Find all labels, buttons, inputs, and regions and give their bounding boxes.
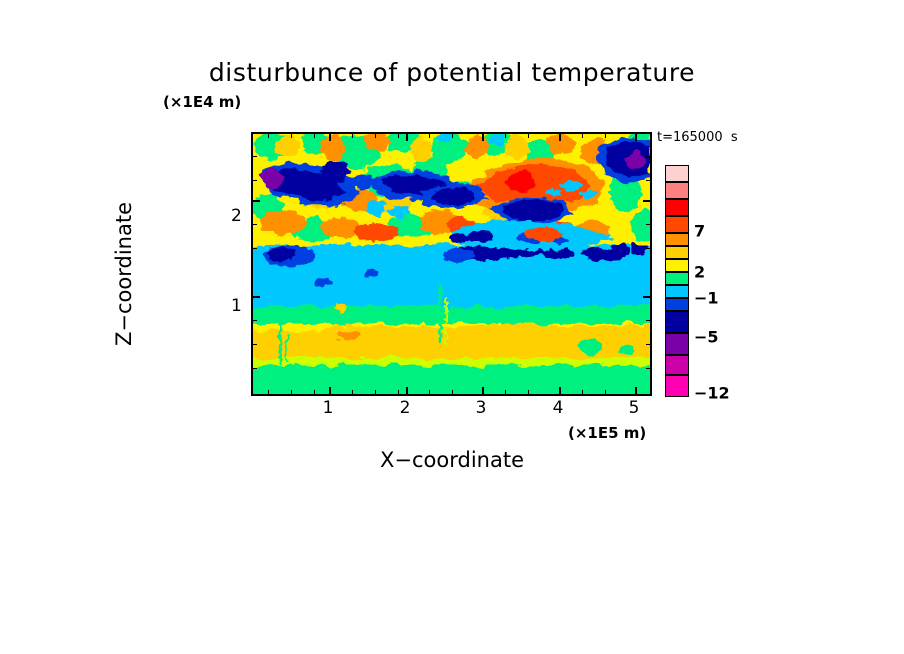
x-tick-label: 2 xyxy=(400,398,411,418)
x-tick-top xyxy=(291,132,292,138)
colorbar-label: 2 xyxy=(694,263,705,282)
x-axis-label: X−coordinate xyxy=(0,448,904,472)
contour-field xyxy=(253,134,650,394)
colorbar-band xyxy=(665,285,689,298)
x-tick-top xyxy=(429,132,430,138)
colorbar-band xyxy=(665,259,689,272)
colorbar-band xyxy=(665,298,689,311)
x-tick-top xyxy=(505,132,506,138)
y-tick-right xyxy=(646,156,652,157)
colorbar-band xyxy=(665,375,689,397)
colorbar-band xyxy=(665,333,689,355)
x-axis-units-label: (×1E5 m) xyxy=(568,424,646,442)
y-tick xyxy=(251,224,257,225)
colorbar-band xyxy=(665,272,689,285)
x-tick-label: 5 xyxy=(629,398,640,418)
x-tick xyxy=(429,390,430,396)
colorbar-label: −12 xyxy=(694,384,730,403)
x-tick-top xyxy=(375,132,376,138)
y-tick-major xyxy=(251,296,260,298)
y-axis-units-label: (×1E4 m) xyxy=(163,93,241,111)
x-tick-major xyxy=(559,387,561,396)
x-tick xyxy=(452,390,453,396)
x-tick-major xyxy=(482,387,484,396)
y-tick-right xyxy=(646,180,652,181)
colorbar-label: −1 xyxy=(694,289,719,308)
time-annotation: t=165000 s xyxy=(657,130,738,145)
x-tick-top xyxy=(528,132,529,138)
y-tick xyxy=(251,156,257,157)
x-tick-top-major xyxy=(329,132,331,141)
x-tick-top-major xyxy=(559,132,561,141)
y-tick xyxy=(251,180,257,181)
plot-frame xyxy=(251,132,652,396)
x-tick-top xyxy=(452,132,453,138)
colorbar-label: 7 xyxy=(694,222,705,241)
y-tick-major xyxy=(251,200,260,202)
colorbar-band xyxy=(665,355,689,375)
x-tick-top xyxy=(314,132,315,138)
x-tick-label: 4 xyxy=(553,398,564,418)
x-tick-top xyxy=(352,132,353,138)
x-tick-major xyxy=(635,387,637,396)
y-tick xyxy=(251,344,257,345)
x-tick-top-major xyxy=(406,132,408,141)
x-tick xyxy=(314,390,315,396)
x-tick xyxy=(605,390,606,396)
x-tick xyxy=(268,390,269,396)
y-tick-right xyxy=(646,368,652,369)
x-tick-top xyxy=(582,132,583,138)
x-tick xyxy=(291,390,292,396)
x-tick-top-major xyxy=(635,132,637,141)
y-axis-label: Z−coordinate xyxy=(112,144,136,404)
x-tick-major xyxy=(329,387,331,396)
colorbar[interactable] xyxy=(665,165,689,397)
x-tick-top xyxy=(268,132,269,138)
x-tick xyxy=(352,390,353,396)
colorbar-band xyxy=(665,182,689,199)
y-tick-right xyxy=(646,224,652,225)
y-tick-right xyxy=(646,320,652,321)
y-tick-label: 2 xyxy=(231,206,242,226)
x-tick-top xyxy=(398,132,399,138)
x-tick xyxy=(375,390,376,396)
colorbar-band xyxy=(665,216,689,233)
x-tick xyxy=(505,390,506,396)
x-tick xyxy=(398,390,399,396)
x-tick xyxy=(582,390,583,396)
x-tick-label: 1 xyxy=(323,398,334,418)
x-tick-label: 3 xyxy=(476,398,487,418)
y-tick xyxy=(251,320,257,321)
x-tick-top-major xyxy=(482,132,484,141)
y-tick-label: 1 xyxy=(231,296,242,316)
y-tick-right-major xyxy=(643,200,652,202)
y-tick-right xyxy=(646,248,652,249)
colorbar-band xyxy=(665,199,689,216)
y-tick-right-major xyxy=(643,296,652,298)
x-tick-top xyxy=(605,132,606,138)
colorbar-band xyxy=(665,233,689,246)
colorbar-band xyxy=(665,246,689,259)
colorbar-label: −5 xyxy=(694,328,719,347)
y-tick-right xyxy=(646,344,652,345)
x-tick xyxy=(528,390,529,396)
colorbar-band xyxy=(665,311,689,333)
colorbar-band xyxy=(665,165,689,182)
contour-field-svg xyxy=(253,134,650,394)
y-tick xyxy=(251,368,257,369)
y-tick xyxy=(251,248,257,249)
page-title: disturbunce of potential temperature xyxy=(0,58,904,87)
x-tick-major xyxy=(406,387,408,396)
figure-canvas: disturbunce of potential temperature (×1… xyxy=(0,0,904,654)
